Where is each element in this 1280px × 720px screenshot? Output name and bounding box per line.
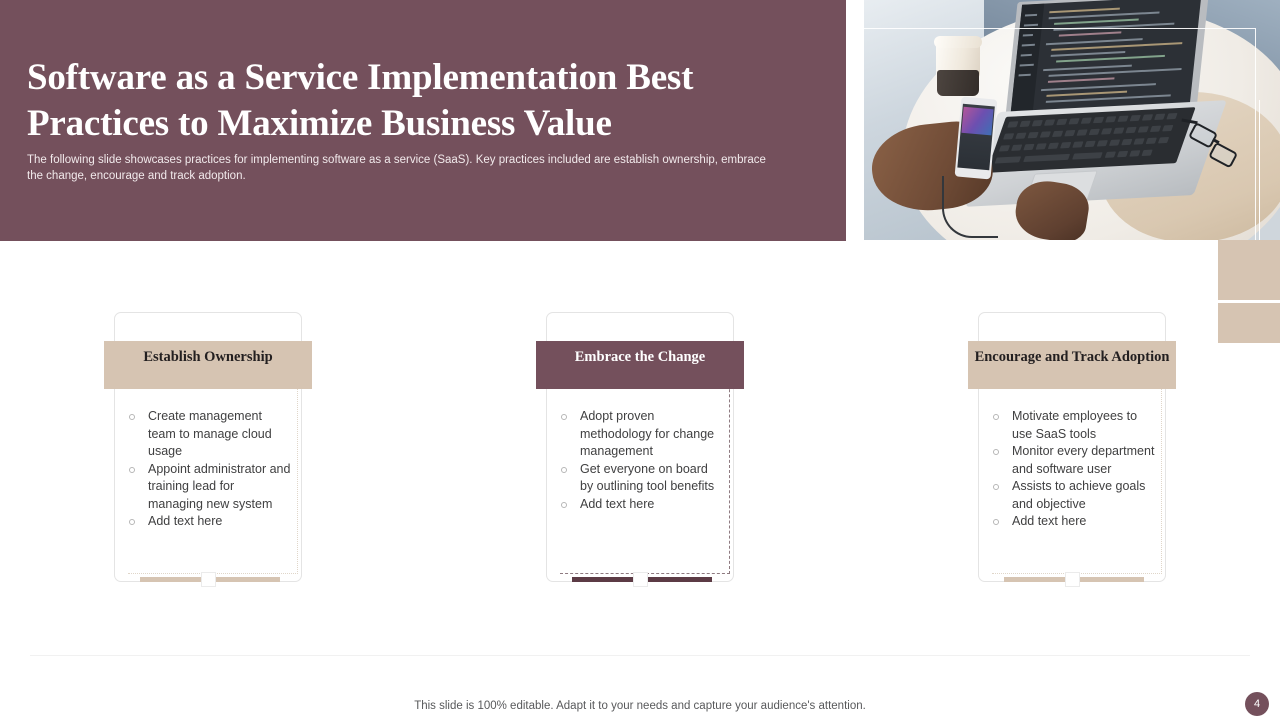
bullet-circle-icon [129,467,135,473]
footer-divider [30,655,1250,656]
photo-smartphone [955,97,998,180]
bullet-circle-icon [561,467,567,473]
list-item: Motivate employees to use SaaS tools [982,408,1156,443]
card-bullet-list: Create management team to manage cloud u… [118,408,292,531]
list-item: Adopt proven methodology for change mana… [550,408,724,461]
footer-note: This slide is 100% editable. Adapt it to… [0,700,1280,712]
list-item: Get everyone on board by outlining tool … [550,461,724,496]
page-subtitle: The following slide showcases practices … [27,152,772,184]
list-item: Add text here [982,513,1156,531]
photo-laptop-screen [1011,0,1202,113]
list-item: Add text here [550,496,724,514]
page-number-badge: 4 [1245,692,1269,716]
laptop-code-photo [864,0,1280,240]
card-slider-establish-ownership[interactable] [140,572,280,586]
bullet-circle-icon [561,502,567,508]
slider-handle[interactable] [633,572,648,587]
card-establish-ownership[interactable]: Establish Ownership Create management te… [114,312,302,582]
photo-charging-cable [942,176,998,238]
card-title-establish-ownership: Establish Ownership [104,341,312,389]
page-title: Software as a Service Implementation Bes… [27,55,827,147]
card-slider-embrace-the-change[interactable] [572,572,712,586]
bullet-circle-icon [993,519,999,525]
card-embrace-the-change[interactable]: Embrace the Change Adopt proven methodol… [546,312,734,582]
list-item: Appoint administrator and training lead … [118,461,292,514]
photo-coffee-sleeve [937,70,979,96]
bullet-circle-icon [129,414,135,420]
list-item: Monitor every department and software us… [982,443,1156,478]
bullet-circle-icon [561,414,567,420]
decorative-block-lower [1218,303,1280,343]
card-bullet-list: Adopt proven methodology for change mana… [550,408,724,513]
card-title-encourage-and-track-adoption: Encourage and Track Adoption [968,341,1176,389]
slide-canvas: Software as a Service Implementation Bes… [0,0,1280,720]
card-title-embrace-the-change: Embrace the Change [536,341,744,389]
card-slider-encourage-and-track-adoption[interactable] [1004,572,1144,586]
photo-coffee-lid [934,36,982,48]
bullet-circle-icon [129,519,135,525]
bullet-circle-icon [993,484,999,490]
bullet-circle-icon [993,414,999,420]
list-item: Assists to achieve goals and objective [982,478,1156,513]
bullet-circle-icon [993,449,999,455]
list-item: Add text here [118,513,292,531]
list-item: Create management team to manage cloud u… [118,408,292,461]
photo-laptop-keyboard [986,107,1195,173]
card-encourage-and-track-adoption[interactable]: Encourage and Track Adoption Motivate em… [978,312,1166,582]
slider-handle[interactable] [1065,572,1080,587]
slider-handle[interactable] [201,572,216,587]
hero-photo [864,0,1280,240]
card-bullet-list: Motivate employees to use SaaS tools Mon… [982,408,1156,531]
decorative-block-upper [1218,240,1280,300]
